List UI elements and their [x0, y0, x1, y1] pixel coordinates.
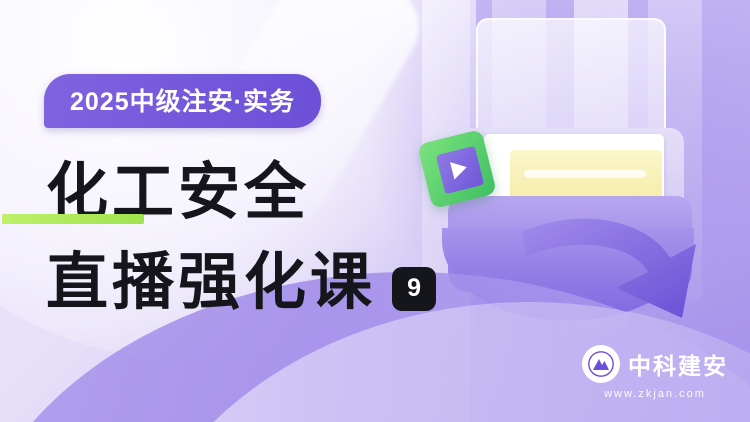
brand-name: 中科建安	[628, 347, 728, 381]
brand-url: www.zkjan.com	[604, 388, 706, 400]
episode-badge: 9	[392, 267, 436, 311]
brand-logo: 中科建安 www.zkjan.com	[582, 345, 728, 400]
course-tag: 2025中级注安·实务	[44, 74, 321, 128]
headline-line-2-row: 直播强化课 9	[46, 250, 436, 315]
headline-underline	[2, 214, 144, 224]
course-banner: 2025中级注安·实务 化工安全 直播强化课 9 中科建安 www.zkjan.…	[0, 0, 750, 422]
headline-line-2: 直播强化课	[46, 250, 376, 315]
brand-logo-row: 中科建安	[582, 345, 728, 383]
mountain-peak-circle-icon	[582, 345, 620, 383]
paper-line-decoration	[524, 170, 646, 178]
